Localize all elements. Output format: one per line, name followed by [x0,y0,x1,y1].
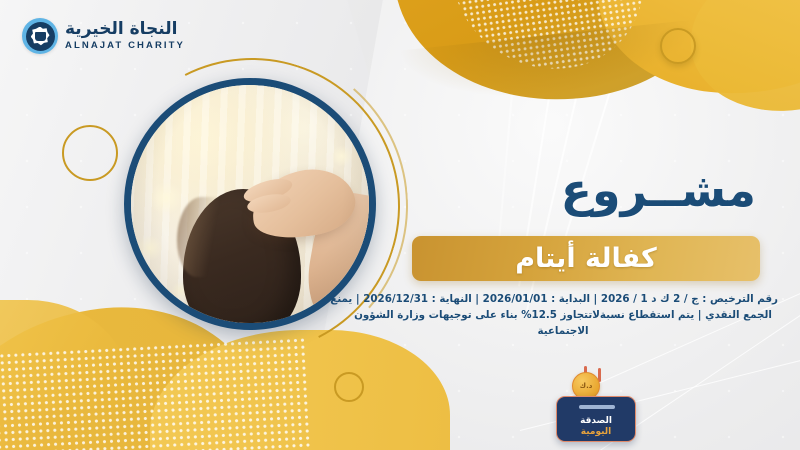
brand-emblem-icon [22,18,58,54]
daily-charity-badge[interactable]: د.ك الصدقة اليومية [548,366,644,444]
gold-ring-decoration [660,28,696,64]
brand-name-arabic: النجاة الخيرية [65,21,177,38]
brand-logo[interactable]: النجاة الخيرية ALNAJAT CHARITY [22,18,185,54]
project-title-text: كفالة أيتام [515,243,657,274]
donation-box-slot-icon [579,405,615,409]
legal-line-1: رقم الترخيص : ج / 2 ك د 1 / 2026 | البدا… [348,292,778,308]
brand-logo-text: النجاة الخيرية ALNAJAT CHARITY [65,21,185,51]
badge-title-line-1: الصدقة [580,416,612,426]
legal-disclaimer: رقم الترخيص : ج / 2 ك د 1 / 2026 | البدا… [348,292,778,340]
donation-box-icon: الصدقة اليومية [556,396,636,442]
brand-name-english: ALNAJAT CHARITY [65,41,185,51]
poster-canvas: النجاة الخيرية ALNAJAT CHARITY مشــروع ك… [0,0,800,450]
badge-title-line-2: اليومية [581,427,612,437]
gold-ring-decoration [62,125,118,181]
project-title-bar: كفالة أيتام [412,236,760,281]
star-core-icon [35,32,46,41]
coin-currency-label: د.ك [580,382,593,390]
photo-vignette [131,85,369,323]
hero-photo-image [131,85,369,323]
page-title: مشــروع [561,163,756,217]
photo-child-shirt [165,329,345,330]
legal-line-2: الجمع النقدي | يتم استقطاع نسبةلاتتجاوز … [348,308,778,324]
octagonal-star-icon [31,27,50,46]
brand-emblem-inner [26,22,55,51]
gold-ring-decoration [334,372,364,402]
legal-line-3: الاجتماعية [348,324,778,340]
